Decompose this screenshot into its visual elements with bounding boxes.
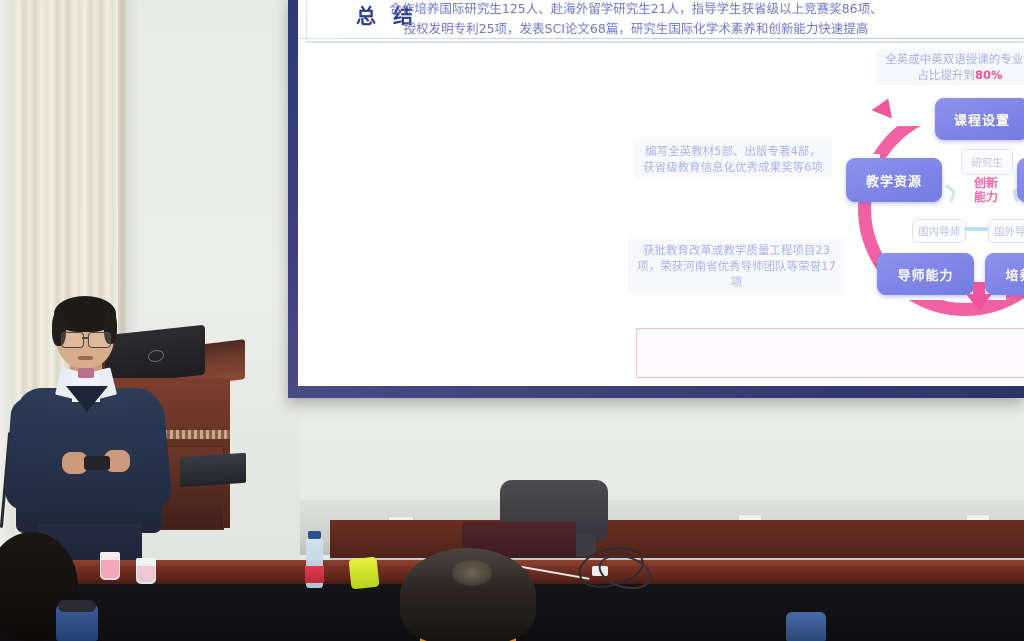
presenter-mouth [78,356,93,360]
cycle-arrow-up-icon [872,94,899,118]
result-line-2: 授权发明专利25项，发表SCI论文68篇，研究生国际化学术素养和创新能力快速提高 [298,19,974,39]
center-label: 创新 能力 [958,176,1014,204]
glasses-lens-right-icon [88,332,111,348]
cycle-box-training-platform: 培养平台 [985,253,1024,295]
result-line-1: 合作培养国际研究生125人、赴海外留学研究生21人，指导学生获省级以上竞赛奖86… [298,0,974,19]
down-arrow-icon [966,294,992,311]
inner-node-foreign-advisor: 国外导师 [988,219,1024,243]
inner-node-domestic-advisor: 国内导师 [912,219,966,243]
cycle-box-course-setup: 课程设置 [935,98,1024,140]
projection-screen: 总 结 全英或中英双语授课的专业课占比提升到80% 研究生 ❯ ❮ 创新 [298,0,1024,386]
water-bottle-cap [308,531,321,539]
result-banner [636,328,1024,378]
presentation-slide: 总 结 全英或中英双语授课的专业课占比提升到80% 研究生 ❯ ❮ 创新 [298,0,1024,386]
thermos-left-cap [58,600,96,612]
inner-connector-arrow-icon [964,227,990,231]
glasses-bridge-icon [82,337,89,339]
top-note-highlight: 80% [975,68,1003,82]
cycle-box-teaching-method: 授课方式 [1017,158,1024,202]
top-note-text: 全英或中英双语授课的专业课占比提升到 [885,52,1024,82]
cycle-box-advisor-ability: 导师能力 [877,253,974,295]
center-label-line1: 创新 [958,176,1014,190]
paper-cup-2-band [137,566,155,582]
top-note: 全英或中英双语授课的专业课占比提升到80% [876,49,1024,85]
podium-laptop [180,453,246,488]
water-bottle-label [305,566,324,583]
projection-screen-frame: 总 结 全英或中英双语授课的专业课占比提升到80% 研究生 ❯ ❮ 创新 [288,0,1024,398]
paper-cup-1-band [101,560,119,578]
green-pouch [349,557,380,590]
thermos-right [786,612,826,641]
callout-left-bottom: 获批教育改革或教学质量工程项目23项，荣获河南省优秀导师团队等荣誉17项 [628,238,845,294]
presenter-arm-left [4,397,52,512]
presentation-clicker [84,456,110,470]
glasses-lens-left-icon [61,332,84,348]
cycle-box-teaching-resource: 教学资源 [846,158,942,202]
callout-left-top: 编写全英教材5部、出版专著4部，获省级教育信息化优秀成果奖等6项 [634,139,832,179]
inner-node-student: 研究生 [961,149,1013,175]
result-banner-text: 合作培养国际研究生125人、赴海外留学研究生21人，指导学生获省级以上竞赛奖86… [298,0,974,39]
center-label-line2: 能力 [958,190,1014,204]
lecture-room-photo: 总 结 全英或中英双语授课的专业课占比提升到80% 研究生 ❯ ❮ 创新 [0,0,1024,641]
presenter-tie [78,368,94,378]
audience-head-highlight [452,560,492,586]
